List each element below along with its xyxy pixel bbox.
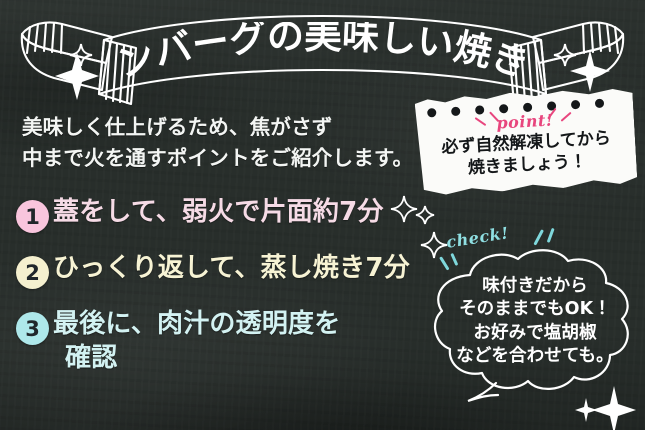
bubble-line-2: そのままでもOK！ bbox=[440, 298, 630, 321]
step-item: 3 最後に、肉汁の透明度を 確認 bbox=[16, 308, 436, 376]
step-text-line-1: ひっくり返して、蒸し焼き7分 bbox=[53, 253, 410, 283]
memo-note: point! 必ず自然解凍してから 焼きましょう！ bbox=[414, 86, 637, 196]
check-accent-stroke bbox=[547, 228, 555, 243]
banner-title: ハンバーグの美味しい焼き方 bbox=[118, 22, 528, 98]
subtitle: 美味しく仕上げるため、焦がさず 中まで火を通すポイントをご紹介します。 bbox=[22, 112, 422, 174]
step-item: 2 ひっくり返して、蒸し焼き7分 bbox=[16, 252, 436, 289]
step-text: 最後に、肉汁の透明度を 確認 bbox=[53, 308, 340, 376]
step-text-line-1: 蓋をして、弱火で片面約7分 bbox=[53, 197, 384, 227]
step-item: 1 蓋をして、弱火で片面約7分 bbox=[16, 196, 436, 233]
bubble-line-4: などを合わせても。 bbox=[440, 345, 630, 368]
cooking-instruction-graphic: ハンバーグの美味しい焼き方 美味しく仕上げるため、焦がさず 中まで火を通すポイン… bbox=[0, 0, 645, 430]
bubble-body: 味付きだから そのままでもOK！ お好みで塩胡椒 などを合わせても。 bbox=[440, 275, 630, 368]
step-text-line-1: 最後に、肉汁の透明度を bbox=[53, 309, 340, 339]
bubble-line-1: 味付きだから bbox=[440, 275, 630, 298]
step-text: ひっくり返して、蒸し焼き7分 bbox=[53, 252, 410, 286]
subtitle-line-1: 美味しく仕上げるため、焦がさず bbox=[22, 112, 422, 143]
bubble-line-3: お好みで塩胡椒 bbox=[440, 322, 630, 345]
check-accent-stroke bbox=[533, 229, 543, 245]
step-text-line-2: 確認 bbox=[53, 342, 340, 376]
step-text: 蓋をして、弱火で片面約7分 bbox=[53, 196, 384, 230]
banner-title-text: ハンバーグの美味しい焼き方 bbox=[118, 22, 528, 86]
step-number-badge: 2 bbox=[16, 256, 49, 289]
steps-list: 1 蓋をして、弱火で片面約7分 2 ひっくり返して、蒸し焼き7分 3 最後に、肉… bbox=[16, 196, 436, 395]
speech-bubble: 味付きだから そのままでもOK！ お好みで塩胡椒 などを合わせても。 bbox=[430, 245, 638, 405]
step-number-badge: 1 bbox=[16, 200, 49, 233]
step-number-badge: 3 bbox=[16, 312, 49, 345]
subtitle-line-2: 中まで火を通すポイントをご紹介します。 bbox=[22, 143, 422, 174]
